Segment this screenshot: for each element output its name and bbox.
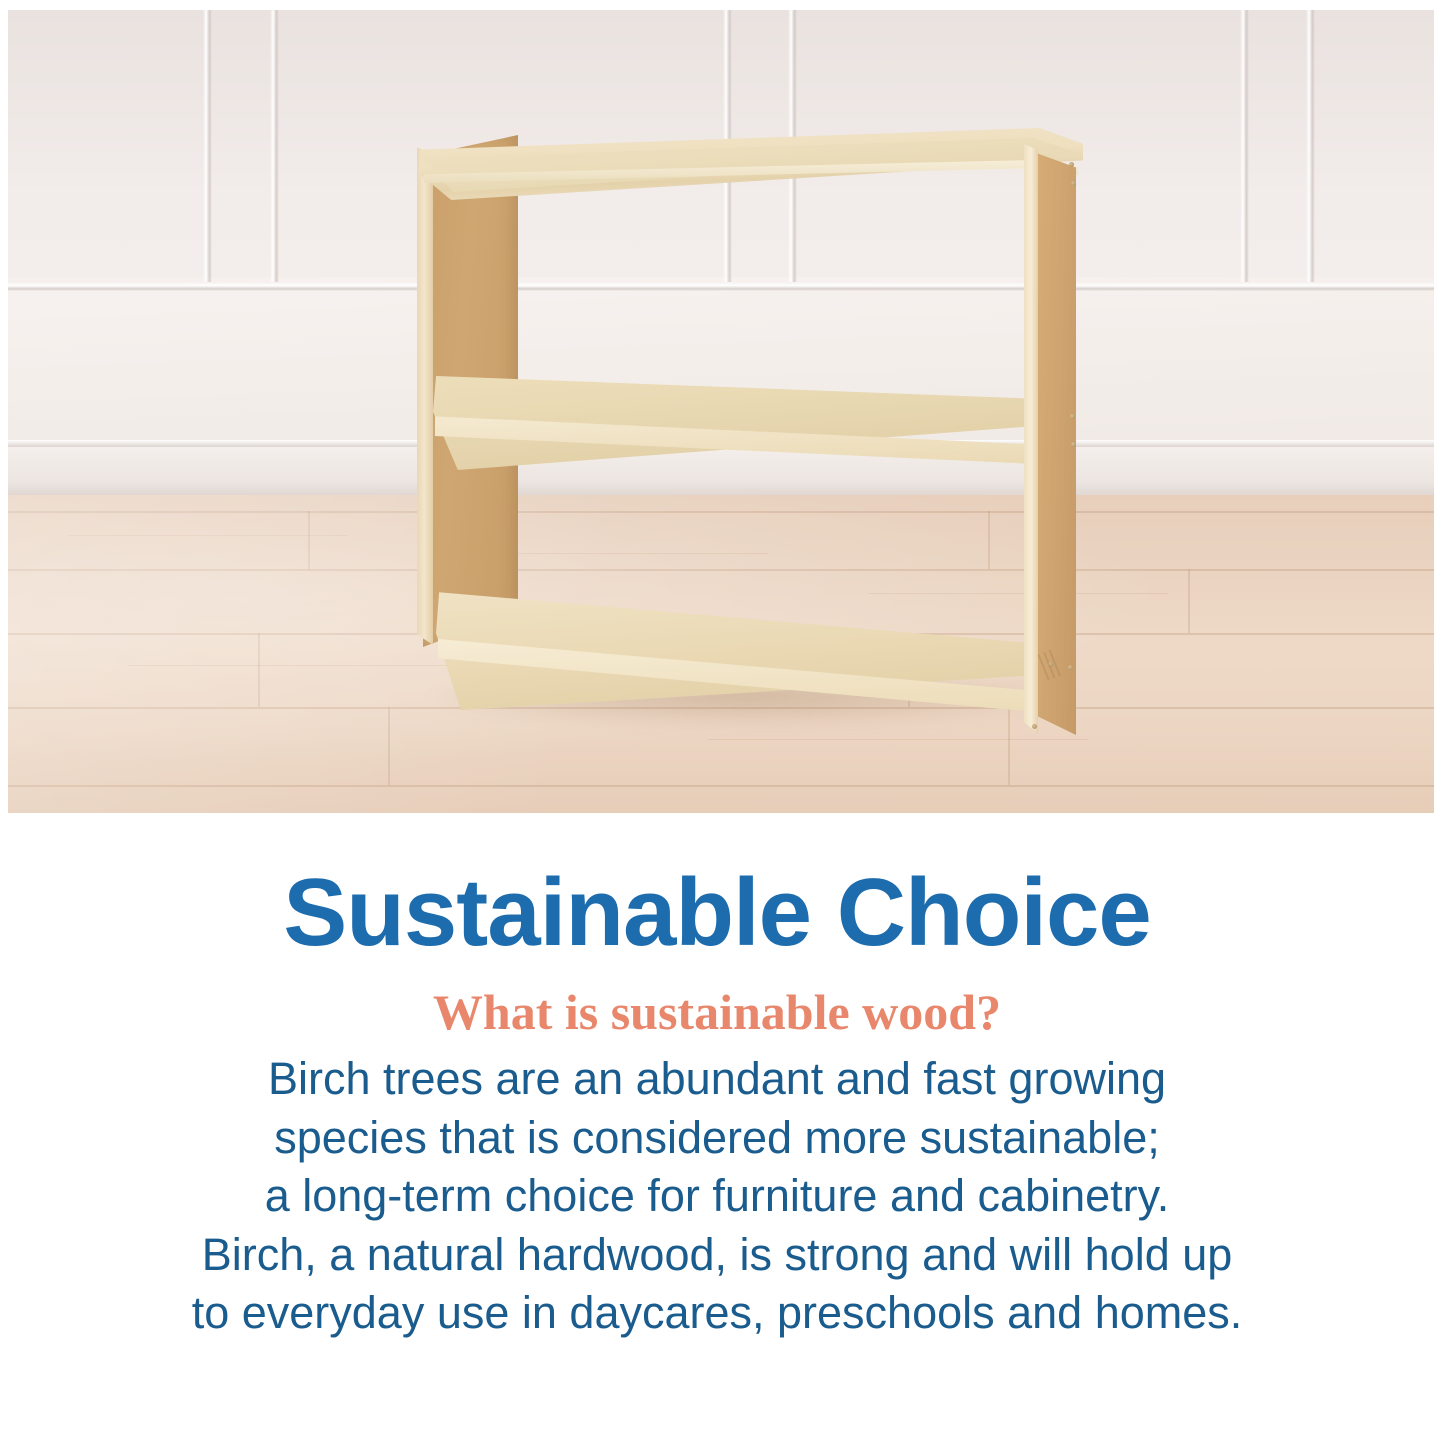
product-infographic: Sustainable Choice What is sustainable w… bbox=[0, 0, 1434, 1434]
screw-icon bbox=[1070, 414, 1075, 419]
body-line: species that is considered more sustaina… bbox=[0, 1109, 1434, 1168]
body-paragraph: Birch trees are an abundant and fast gro… bbox=[0, 1050, 1434, 1343]
screw-icon bbox=[1068, 665, 1073, 670]
screw-icon bbox=[1071, 181, 1076, 186]
room-scene bbox=[8, 10, 1434, 813]
shelf-fasteners bbox=[8, 10, 1434, 813]
storage-shelf-unit bbox=[8, 10, 1434, 813]
body-line: a long-term choice for furniture and cab… bbox=[0, 1167, 1434, 1226]
screw-icon bbox=[1069, 162, 1074, 167]
body-line: Birch, a natural hardwood, is strong and… bbox=[0, 1226, 1434, 1285]
screw-icon bbox=[1032, 724, 1037, 729]
section-subtitle: What is sustainable wood? bbox=[0, 985, 1434, 1040]
product-photo bbox=[8, 10, 1434, 813]
body-line: Birch trees are an abundant and fast gro… bbox=[0, 1050, 1434, 1109]
screw-icon bbox=[1071, 442, 1076, 447]
text-content: Sustainable Choice What is sustainable w… bbox=[0, 813, 1434, 1343]
page-title: Sustainable Choice bbox=[0, 865, 1434, 961]
body-line: to everyday use in daycares, preschools … bbox=[0, 1284, 1434, 1343]
